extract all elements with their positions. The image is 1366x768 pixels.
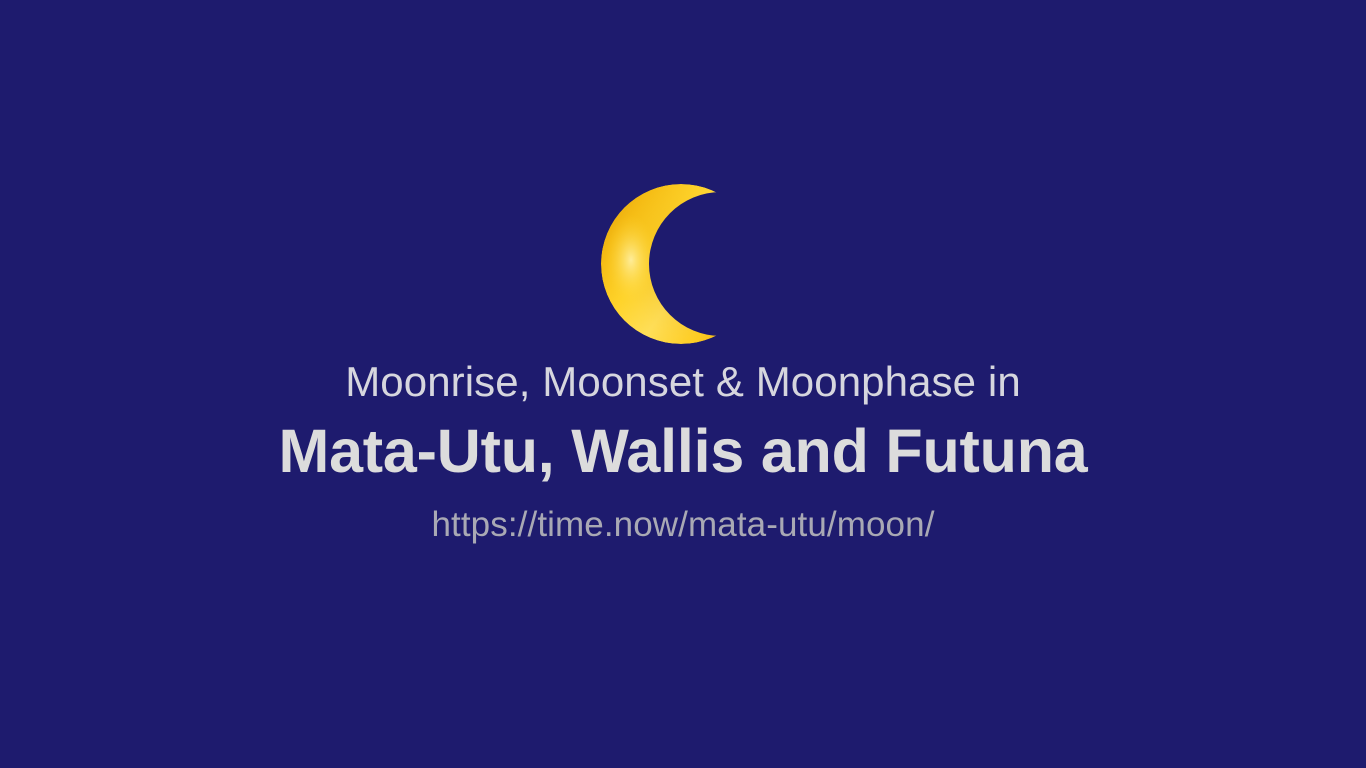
moon-splash-screen: Moonrise, Moonset & Moonphase in Mata-Ut…: [0, 0, 1366, 768]
crescent-moon-icon: [595, 176, 771, 352]
page-subtitle: Moonrise, Moonset & Moonphase in: [0, 358, 1366, 405]
page-title: Mata-Utu, Wallis and Futuna: [0, 417, 1366, 485]
page-url: https://time.now/mata-utu/moon/: [0, 505, 1366, 544]
headline-block: Moonrise, Moonset & Moonphase in Mata-Ut…: [0, 358, 1366, 545]
moon-illustration: [0, 176, 1366, 352]
